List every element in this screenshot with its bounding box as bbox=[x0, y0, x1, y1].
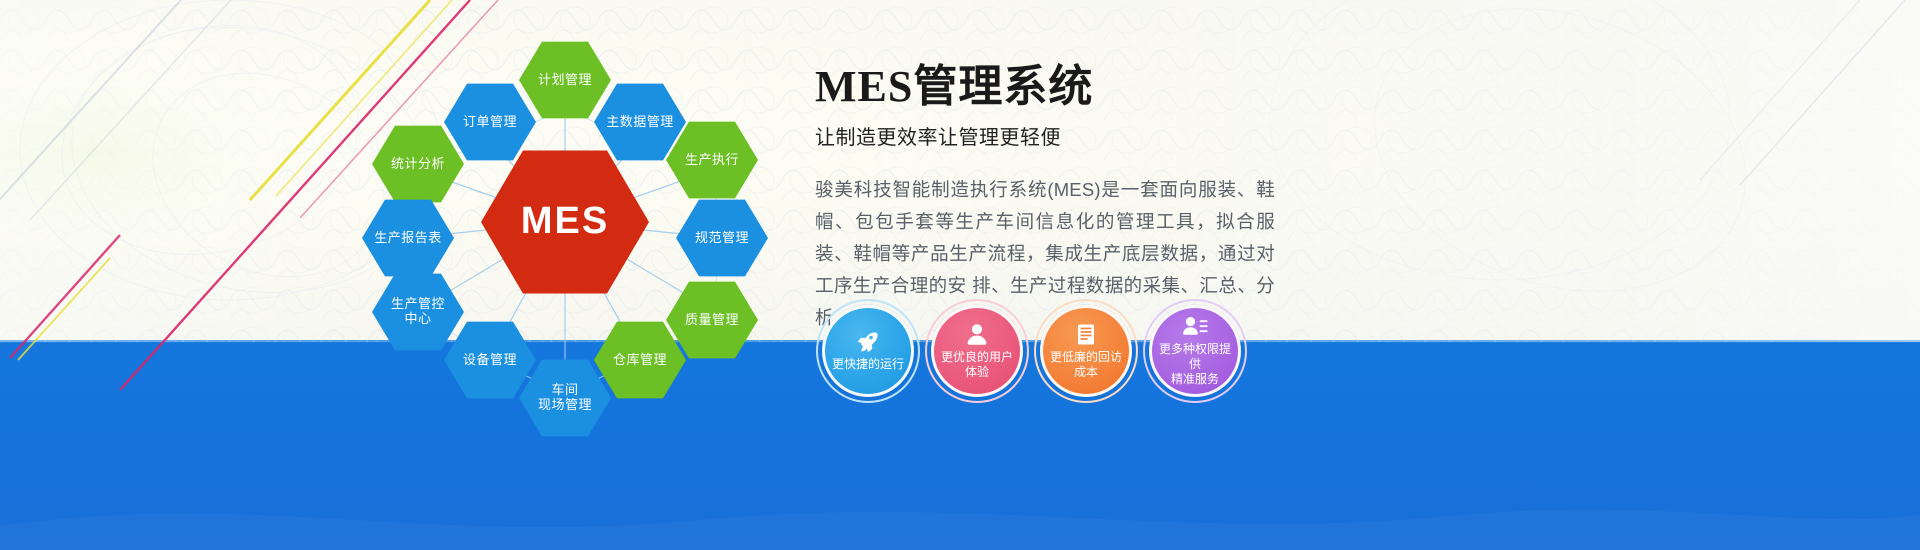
node-label: 设备管理 bbox=[463, 353, 517, 368]
feature-badge-list: 更快捷的运行 更优良的用户 体验 bbox=[822, 305, 1241, 397]
mes-hexagon-diagram: MES 计划管理 订单管理 主数据管理 统计分析 生产执行 生产报告表 规范管理… bbox=[330, 10, 800, 435]
node-label: 生产报告表 bbox=[374, 231, 442, 246]
banner-text-column: MES管理系统 让制造更效率让管理更轻便 骏美科技智能制造执行系统(MES)是一… bbox=[815, 62, 1455, 334]
page-title: MES管理系统 bbox=[815, 62, 1455, 113]
node-label: 规范管理 bbox=[695, 231, 749, 246]
node-label: 生产管控 中心 bbox=[391, 297, 445, 327]
node-label: 车间 现场管理 bbox=[538, 383, 592, 413]
node-label: 生产执行 bbox=[685, 153, 739, 168]
node-label: 订单管理 bbox=[463, 115, 517, 130]
rocket-icon bbox=[856, 330, 880, 354]
diagram-center-label: MES bbox=[521, 200, 609, 244]
badge-label: 更多种权限提供 精准服务 bbox=[1158, 342, 1232, 387]
badge-label: 更优良的用户 体验 bbox=[941, 350, 1013, 380]
node-label: 仓库管理 bbox=[613, 353, 667, 368]
permission-icon bbox=[1183, 315, 1208, 339]
feature-badge-lower-revisit-cost[interactable]: 更低廉的回访 成本 bbox=[1040, 305, 1132, 397]
badge-label: 更低廉的回访 成本 bbox=[1050, 350, 1122, 380]
node-label: 质量管理 bbox=[685, 313, 739, 328]
document-icon bbox=[1075, 323, 1097, 347]
node-label: 统计分析 bbox=[391, 157, 445, 172]
feature-badge-faster-operation[interactable]: 更快捷的运行 bbox=[822, 305, 914, 397]
node-label: 主数据管理 bbox=[606, 115, 674, 130]
badge-label: 更快捷的运行 bbox=[832, 357, 904, 372]
page-subtitle: 让制造更效率让管理更轻便 bbox=[815, 121, 1455, 150]
user-icon bbox=[966, 323, 988, 347]
mes-banner: MES 计划管理 订单管理 主数据管理 统计分析 生产执行 生产报告表 规范管理… bbox=[0, 0, 1920, 550]
feature-badge-better-user-experience[interactable]: 更优良的用户 体验 bbox=[931, 305, 1023, 397]
feature-badge-multi-permission[interactable]: 更多种权限提供 精准服务 bbox=[1149, 305, 1241, 397]
node-label: 计划管理 bbox=[538, 73, 592, 88]
